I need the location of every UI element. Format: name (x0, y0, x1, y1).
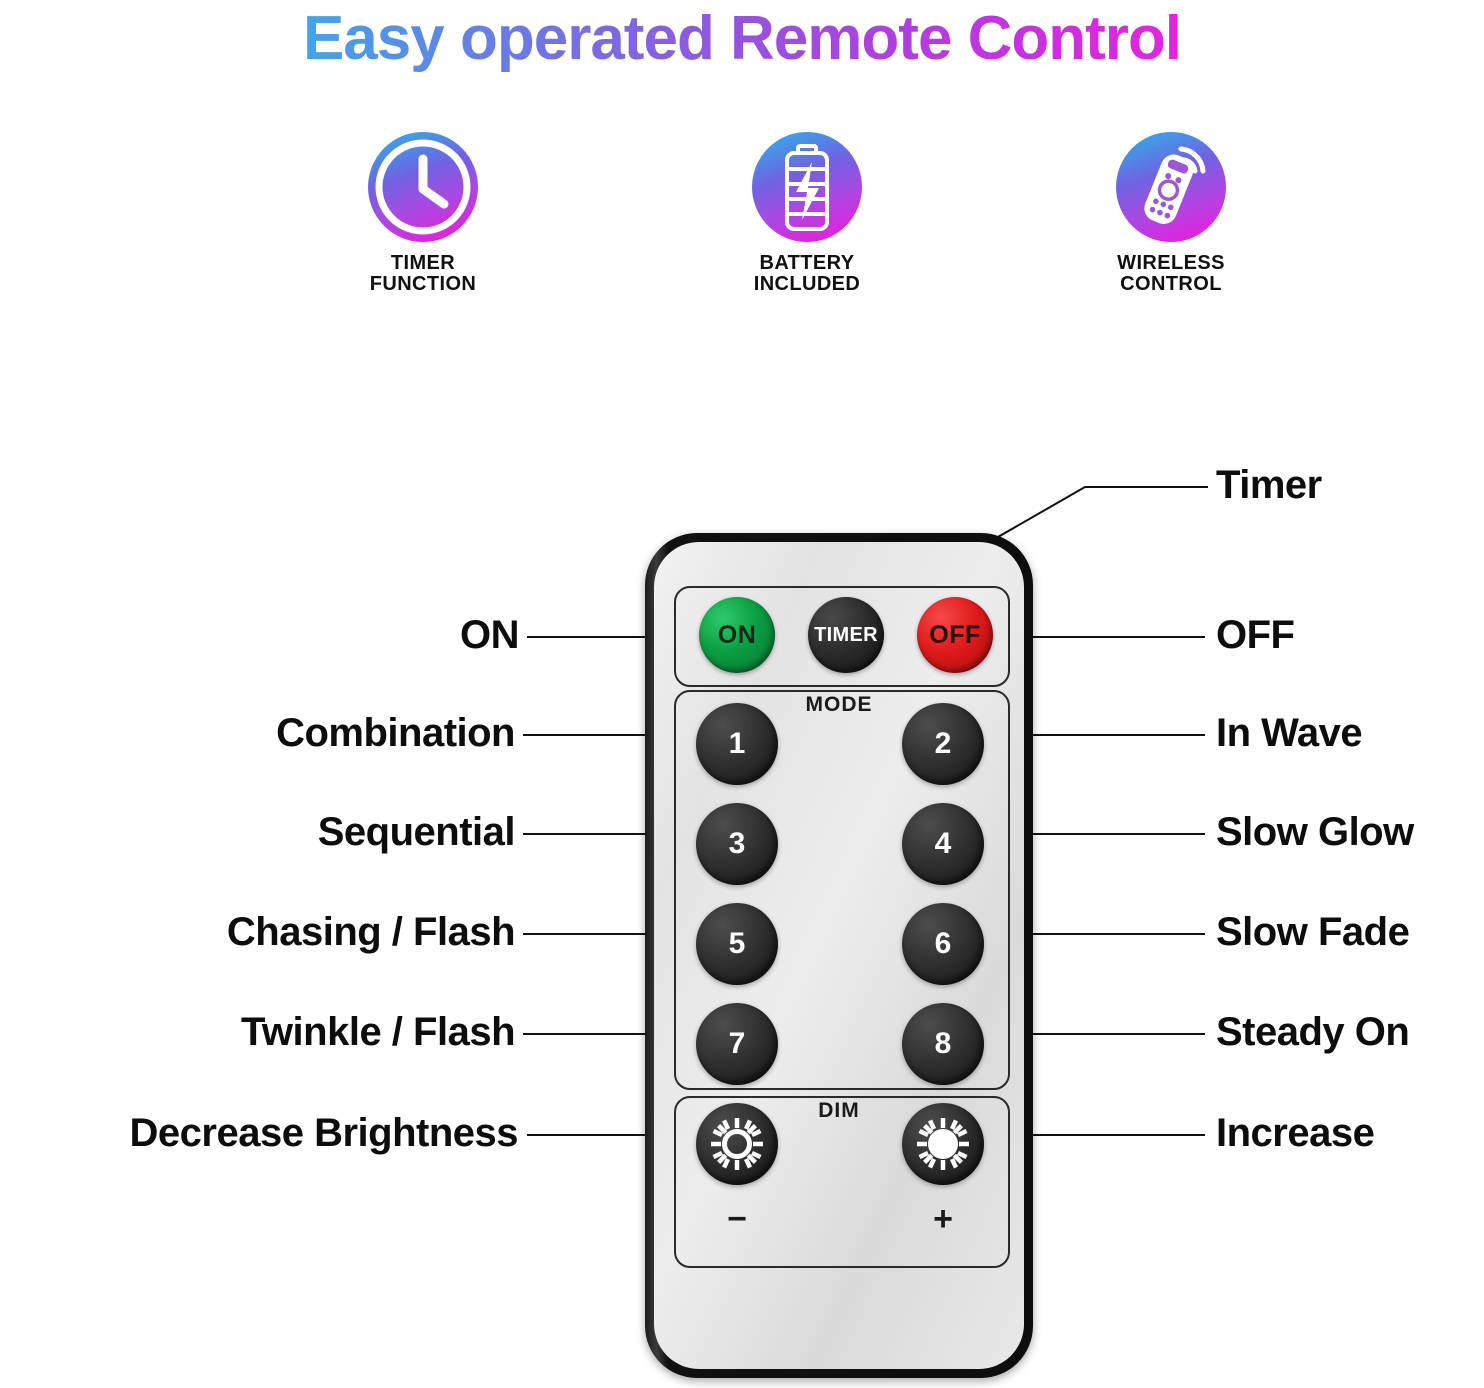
mode-button-3[interactable]: 3 (696, 803, 778, 885)
dim-increase-button[interactable] (902, 1103, 984, 1185)
callout-decrease-brightness: Decrease Brightness (8, 1110, 518, 1156)
callout-slow-glow: Slow Glow (1216, 809, 1414, 855)
callout-combination: Combination (195, 710, 515, 756)
feature-timer-function: TIMER FUNCTION (288, 132, 558, 295)
mode-button-5[interactable]: 5 (696, 903, 778, 985)
dim-plus-symbol: + (902, 1200, 984, 1239)
sun-filled-icon (912, 1113, 974, 1175)
battery-icon (752, 132, 862, 242)
mode-button-8[interactable]: 8 (902, 1003, 984, 1085)
callout-on: ON (249, 612, 519, 658)
dim-minus-symbol: − (696, 1200, 778, 1239)
callout-steady-on: Steady On (1216, 1009, 1409, 1055)
remote-face: ON TIMER OFF MODE 1 2 3 4 5 6 7 8 DIM (654, 542, 1024, 1369)
callout-timer: Timer (1216, 462, 1322, 508)
callout-increase: Increase (1216, 1110, 1374, 1156)
mode-button-1[interactable]: 1 (696, 703, 778, 785)
mode-button-4[interactable]: 4 (902, 803, 984, 885)
mode-button-7[interactable]: 7 (696, 1003, 778, 1085)
mode-button-2[interactable]: 2 (902, 703, 984, 785)
callout-twinkle-flash: Twinkle / Flash (125, 1009, 515, 1055)
callout-in-wave: In Wave (1216, 710, 1362, 756)
mode-button-6[interactable]: 6 (902, 903, 984, 985)
callout-sequential: Sequential (195, 809, 515, 855)
page-title: Easy operated Remote Control (0, 2, 1484, 76)
timer-button[interactable]: TIMER (808, 597, 884, 673)
feature-wireless-control: WIRELESS CONTROL (1036, 132, 1306, 295)
on-button[interactable]: ON (699, 597, 775, 673)
dim-decrease-button[interactable] (696, 1103, 778, 1185)
off-button[interactable]: OFF (917, 597, 993, 673)
callout-chasing-flash: Chasing / Flash (125, 909, 515, 955)
feature-label: BATTERY INCLUDED (672, 253, 942, 295)
feature-battery-included: BATTERY INCLUDED (672, 132, 942, 295)
clock-icon (368, 132, 478, 242)
remote-control-device: ON TIMER OFF MODE 1 2 3 4 5 6 7 8 DIM (645, 533, 1033, 1378)
feature-badges: TIMER FUNCTION BATTERY INCLUDED (0, 132, 1484, 312)
feature-label: WIRELESS CONTROL (1036, 253, 1306, 295)
callout-slow-fade: Slow Fade (1216, 909, 1409, 955)
sun-outline-icon (706, 1113, 768, 1175)
remote-icon (1116, 132, 1226, 242)
feature-label: TIMER FUNCTION (288, 253, 558, 295)
callout-off: OFF (1216, 612, 1294, 658)
